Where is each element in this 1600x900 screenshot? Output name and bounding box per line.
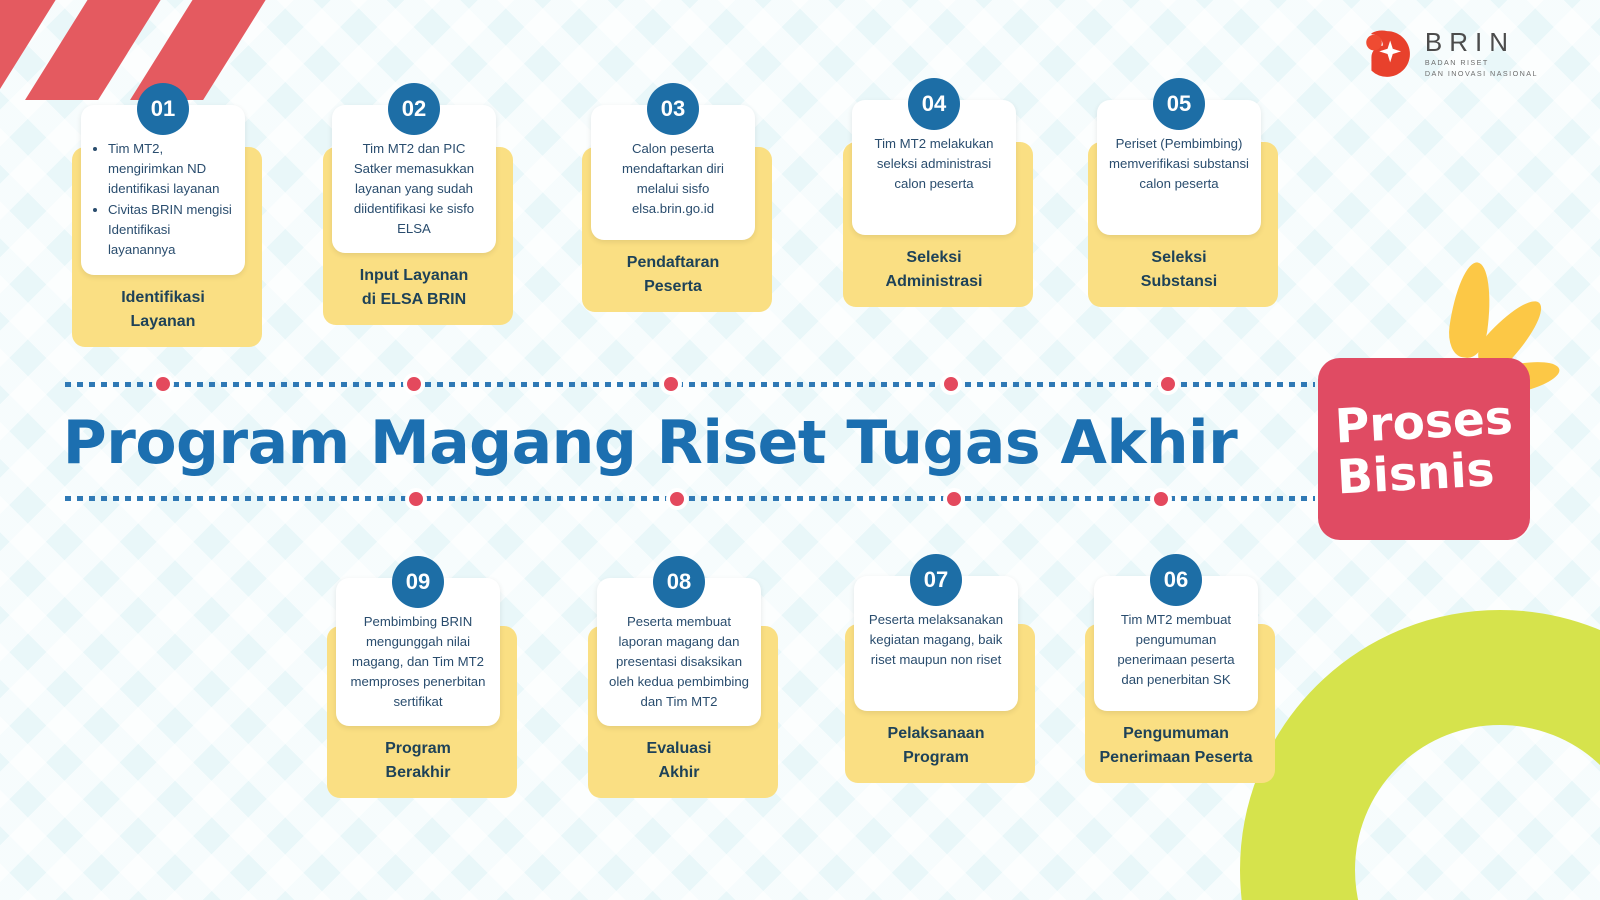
step-caption: Pendaftaran Peserta (578, 240, 768, 312)
step-bullet-item: Civitas BRIN mengisi Identifikasi layana… (108, 200, 234, 260)
connector-dot-bottom-3 (943, 488, 965, 510)
step-caption: Evaluasi Akhir (584, 726, 774, 798)
step-card-body: 08Peserta membuat laporan magang dan pre… (597, 578, 761, 726)
step-description: Calon peserta mendaftarkan diri melalui … (602, 139, 744, 219)
step-description: Periset (Pembimbing) memverifikasi subst… (1108, 134, 1250, 194)
brin-name: BRIN (1425, 29, 1538, 55)
step-description: Tim MT2 melakukan seleksi administrasi c… (863, 134, 1005, 194)
step-bullet-list: Tim MT2, mengirimkan ND identifikasi lay… (92, 139, 234, 260)
step-card-06[interactable]: 06Tim MT2 membuat pengumuman penerimaan … (1081, 576, 1271, 783)
proses-bisnis-plate: Proses Bisnis (1318, 358, 1530, 540)
step-caption: Program Berakhir (323, 726, 513, 798)
step-card-04[interactable]: 04Tim MT2 melakukan seleksi administrasi… (839, 100, 1029, 307)
connector-dot-top-5 (1157, 373, 1179, 395)
step-card-03[interactable]: 03Calon peserta mendaftarkan diri melalu… (578, 105, 768, 312)
brin-wordmark: BRIN BADAN RISET DAN INOVASI NASIONAL (1425, 29, 1538, 79)
step-card-05[interactable]: 05Periset (Pembimbing) memverifikasi sub… (1084, 100, 1274, 307)
brin-logo: BRIN BADAN RISET DAN INOVASI NASIONAL (1360, 28, 1538, 80)
connector-dot-top-3 (660, 373, 682, 395)
step-description: Peserta melaksanakan kegiatan magang, ba… (865, 610, 1007, 670)
step-caption: Input Layanan di ELSA BRIN (319, 253, 509, 325)
connector-dot-top-4 (940, 373, 962, 395)
step-number-badge: 01 (137, 83, 189, 135)
proses-bisnis-badge: Proses Bisnis (1318, 358, 1530, 540)
step-number-badge: 02 (388, 83, 440, 135)
connector-dot-bottom-1 (405, 488, 427, 510)
step-number-badge: 05 (1153, 78, 1205, 130)
step-caption: Identifikasi Layanan (68, 275, 258, 347)
step-card-07[interactable]: 07Peserta melaksanakan kegiatan magang, … (841, 576, 1031, 783)
step-description: Pembimbing BRIN mengunggah nilai magang,… (347, 612, 489, 712)
step-number-badge: 06 (1150, 554, 1202, 606)
connector-line-bottom (65, 496, 1315, 501)
step-card-body: 03Calon peserta mendaftarkan diri melalu… (591, 105, 755, 240)
step-number-badge: 09 (392, 556, 444, 608)
step-card-body: 01Tim MT2, mengirimkan ND identifikasi l… (81, 105, 245, 275)
step-card-body: 07Peserta melaksanakan kegiatan magang, … (854, 576, 1018, 711)
step-card-08[interactable]: 08Peserta membuat laporan magang dan pre… (584, 578, 774, 798)
step-description: Tim MT2 membuat pengumuman penerimaan pe… (1105, 610, 1247, 690)
step-bullet-item: Tim MT2, mengirimkan ND identifikasi lay… (108, 139, 234, 199)
step-description: Peserta membuat laporan magang dan prese… (608, 612, 750, 712)
connector-dot-bottom-4 (1150, 488, 1172, 510)
step-caption: Pengumuman Penerimaan Peserta (1081, 711, 1271, 783)
step-card-body: 06Tim MT2 membuat pengumuman penerimaan … (1094, 576, 1258, 711)
step-number-badge: 03 (647, 83, 699, 135)
step-caption: Seleksi Substansi (1084, 235, 1274, 307)
proses-bisnis-line-2: Bisnis (1336, 446, 1496, 503)
step-caption: Seleksi Administrasi (839, 235, 1029, 307)
connector-line-top (65, 382, 1315, 387)
step-card-body: 09Pembimbing BRIN mengunggah nilai magan… (336, 578, 500, 726)
step-card-02[interactable]: 02Tim MT2 dan PIC Satker memasukkan laya… (319, 105, 509, 325)
connector-dot-top-1 (152, 373, 174, 395)
step-card-01[interactable]: 01Tim MT2, mengirimkan ND identifikasi l… (68, 105, 258, 347)
decorative-red-stripes (0, 0, 360, 100)
step-card-09[interactable]: 09Pembimbing BRIN mengunggah nilai magan… (323, 578, 513, 798)
step-caption: Pelaksanaan Program (841, 711, 1031, 783)
page-title: Program Magang Riset Tugas Akhir (0, 408, 1300, 478)
step-number-badge: 07 (910, 554, 962, 606)
connector-dot-top-2 (403, 373, 425, 395)
step-number-badge: 08 (653, 556, 705, 608)
step-number-badge: 04 (908, 78, 960, 130)
connector-dot-bottom-2 (666, 488, 688, 510)
step-card-body: 05Periset (Pembimbing) memverifikasi sub… (1097, 100, 1261, 235)
step-card-body: 02Tim MT2 dan PIC Satker memasukkan laya… (332, 105, 496, 253)
step-card-body: 04Tim MT2 melakukan seleksi administrasi… (852, 100, 1016, 235)
step-description: Tim MT2 dan PIC Satker memasukkan layana… (343, 139, 485, 239)
brin-logo-mark (1360, 28, 1412, 80)
brin-subtitle: BADAN RISET DAN INOVASI NASIONAL (1425, 58, 1538, 79)
